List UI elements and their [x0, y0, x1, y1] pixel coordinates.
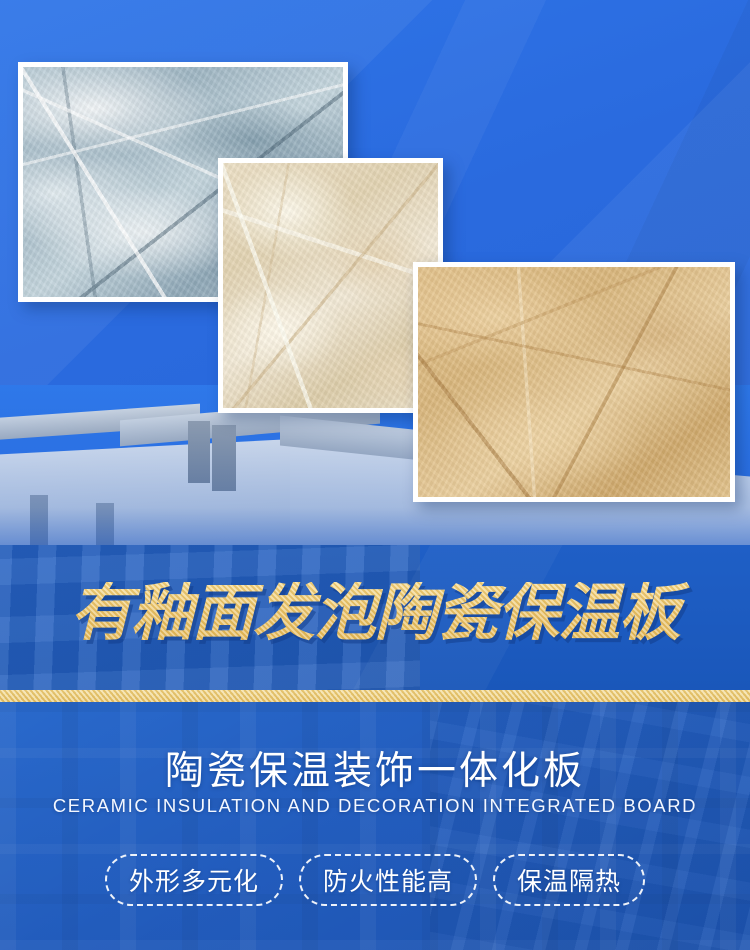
feature-badge-thermal-insulation[interactable]: 保温隔热 — [493, 854, 645, 906]
facade-beam-1 — [0, 404, 200, 441]
gold-divider — [0, 690, 750, 702]
product-tile-tan-marble[interactable] — [413, 262, 735, 502]
product-tile-cream-travertine[interactable] — [218, 158, 443, 413]
facade-panel-1 — [0, 439, 290, 560]
page-title: 有釉面发泡陶瓷保温板 — [0, 582, 750, 644]
facade-column-2 — [212, 425, 236, 491]
subtitle-english: CERAMIC INSULATION AND DECORATION INTEGR… — [0, 795, 750, 817]
feature-badge-list: 外形多元化 防火性能高 保温隔热 — [0, 854, 750, 906]
tan-marble-veins — [418, 267, 730, 497]
tile-texture-tan-marble — [418, 267, 730, 497]
facade-column-1 — [188, 421, 210, 483]
travertine-veins — [223, 163, 438, 408]
feature-badge-fire-resistance[interactable]: 防火性能高 — [299, 854, 477, 906]
product-banner-poster: 有釉面发泡陶瓷保温板 陶瓷保温装饰一体化板 CERAMIC INSULATION… — [0, 0, 750, 950]
feature-badge-shape-diversity[interactable]: 外形多元化 — [105, 854, 283, 906]
subtitle-chinese: 陶瓷保温装饰一体化板 — [0, 740, 750, 796]
tile-texture-cream-travertine — [223, 163, 438, 408]
